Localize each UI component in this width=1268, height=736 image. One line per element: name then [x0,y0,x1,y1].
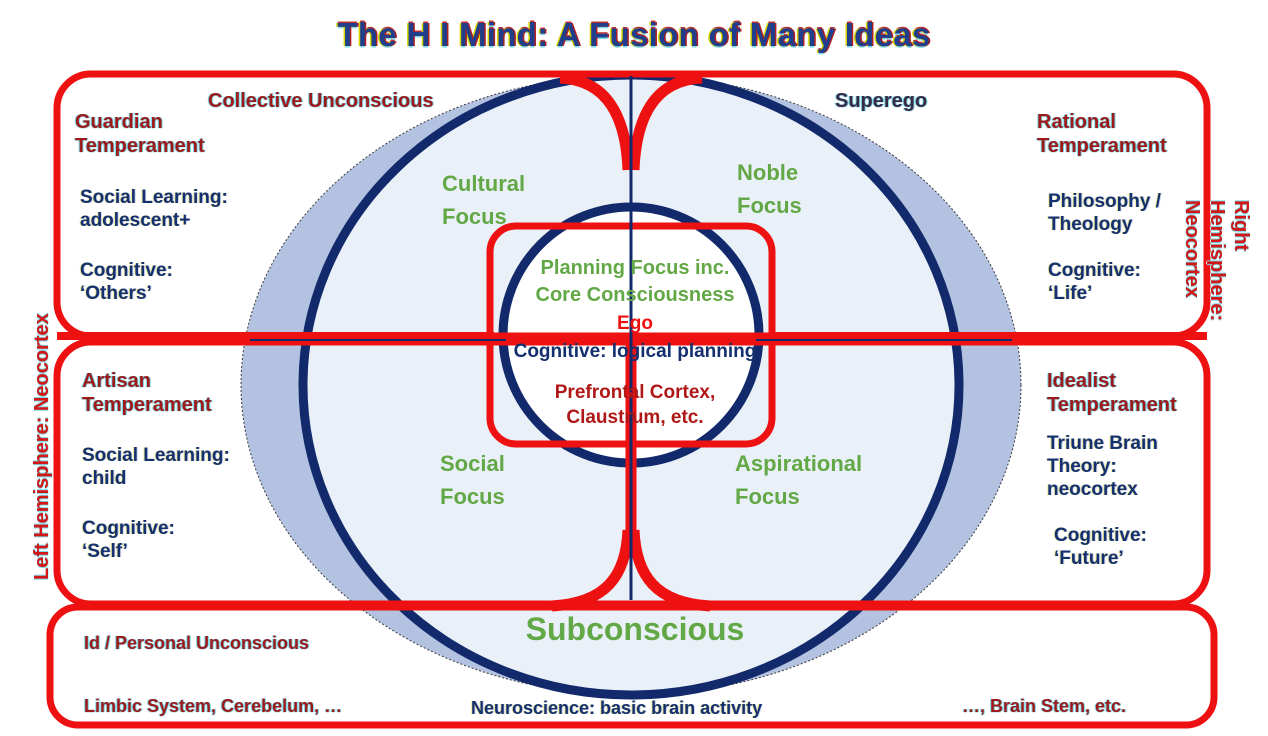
limbic-system-label: Limbic System, Cerebelum, … [84,696,342,718]
idealist-theory: Triune Brain Theory: neocortex [1047,432,1158,502]
social-focus-label: Social Focus [440,447,505,513]
guardian-social-learning: Social Learning: adolescent+ [80,186,228,232]
artisan-social-learning: Social Learning: child [82,444,230,490]
guardian-cognitive: Cognitive: ‘Others’ [80,259,173,305]
left-hemisphere-label: Left Hemisphere: Neocortex [30,313,54,580]
neuroscience-note: Neuroscience: basic brain activity [471,698,762,720]
subconscious-caption: Subconscious [460,610,810,649]
cultural-focus-label: Cultural Focus [442,167,525,233]
rational-discipline: Philosophy / Theology [1048,190,1161,236]
core-ego-label: Ego [505,312,765,335]
superego-caption: Superego [835,89,927,113]
core-anatomy-label: Prefrontal Cortex, Claustrum, etc. [505,381,765,430]
idealist-cognitive: Cognitive: ‘Future’ [1054,524,1147,570]
aspirational-focus-label: Aspirational Focus [735,447,862,513]
artisan-temperament-label: Artisan Temperament [82,369,212,418]
guardian-temperament-label: Guardian Temperament [75,110,205,159]
core-cognitive-label: Cognitive: logical planning [492,340,778,363]
right-hemisphere-label: Right Hemisphere: Neocortex [1180,200,1253,321]
rational-temperament-label: Rational Temperament [1037,110,1167,159]
page-title: The H I Mind: A Fusion of Many Ideas [0,16,1268,54]
id-personal-unconscious-label: Id / Personal Unconscious [84,633,309,655]
core-planning-focus: Planning Focus inc. Core Consciousness [505,255,765,309]
idealist-temperament-label: Idealist Temperament [1047,369,1177,418]
brain-stem-label: …, Brain Stem, etc. [962,696,1126,718]
artisan-cognitive: Cognitive: ‘Self’ [82,517,175,563]
noble-focus-label: Noble Focus [737,156,802,222]
diagram-canvas: The H I Mind: A Fusion of Many Ideas [0,0,1268,736]
collective-unconscious-caption: Collective Unconscious [208,89,434,113]
rational-cognitive: Cognitive: ‘Life’ [1048,259,1141,305]
